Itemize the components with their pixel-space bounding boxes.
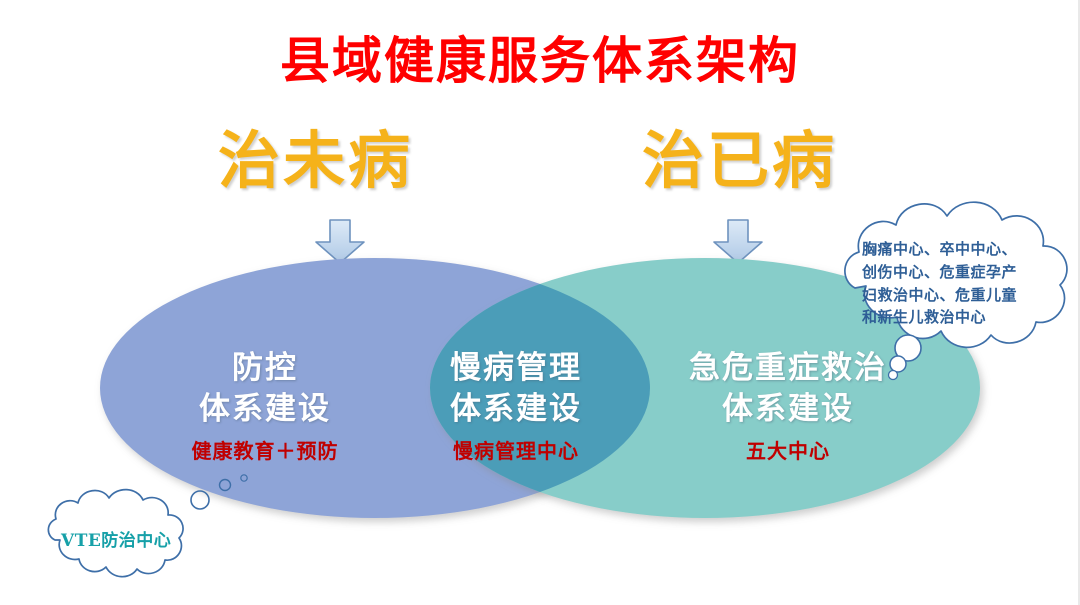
thought-bubble-dot	[191, 491, 209, 509]
thought-bubble-dot	[890, 356, 906, 372]
cloud-callout-left[interactable]	[48, 490, 183, 577]
slide-canvas: 县域健康服务体系架构 治未病 治已病	[0, 0, 1080, 605]
venn-diagram	[0, 0, 1080, 605]
thought-bubble-dot	[889, 371, 898, 380]
